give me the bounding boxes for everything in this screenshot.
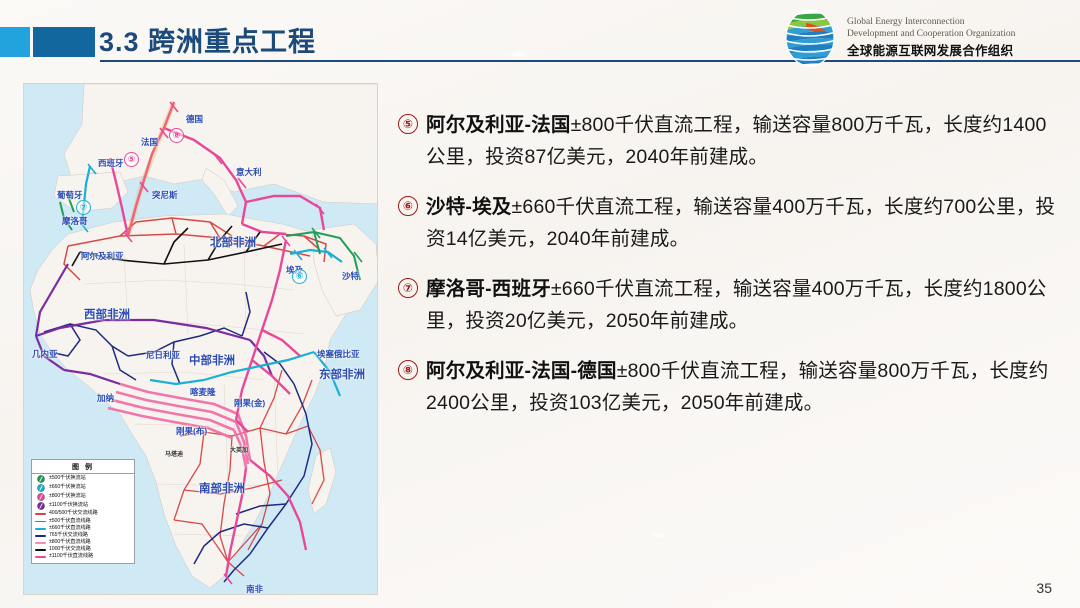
line-swatch-icon bbox=[35, 542, 46, 544]
legend-label: ±660千伏直流线路 bbox=[49, 526, 91, 532]
project-name: 阿尔及利亚-法国-德国 bbox=[426, 360, 617, 382]
project-name: 摩洛哥-西班牙 bbox=[426, 278, 551, 300]
legend-row: ±660千伏换流站 bbox=[32, 483, 134, 492]
legend-label: ±500千伏换流站 bbox=[49, 476, 86, 482]
legend-label: ±660千伏换流站 bbox=[49, 485, 86, 491]
page-number: 35 bbox=[1036, 580, 1052, 596]
line-swatch-icon bbox=[35, 528, 46, 530]
legend-label: ±500千伏直流线路 bbox=[49, 519, 91, 525]
africa-europe-grid-map[interactable]: 北部非洲 西部非洲 中部非洲 东部非洲 南部非洲 法国 德国 西班牙 葡萄牙 摩… bbox=[23, 83, 378, 595]
map-marker-7[interactable]: ⑦ bbox=[76, 200, 91, 215]
line-swatch-icon bbox=[35, 556, 46, 558]
slide-header: 3.3 跨洲重点工程 bbox=[0, 0, 1080, 78]
bullet-text: 沙特-埃及±660千伏直流工程，输送容量400万千瓦，长度约700公里，投资14… bbox=[426, 192, 1058, 255]
legend-label: ±800千伏换流站 bbox=[49, 494, 86, 500]
converter-station-icon bbox=[35, 484, 46, 492]
legend-row: ±500千伏换流站 bbox=[32, 474, 134, 483]
map-marker-8[interactable]: ⑧ bbox=[169, 128, 184, 143]
list-item: ⑤ 阿尔及利亚-法国±800千伏直流工程，输送容量800万千瓦，长度约1400公… bbox=[398, 110, 1058, 173]
legend-label: ±1100千伏换流站 bbox=[49, 503, 88, 509]
project-name: 沙特-埃及 bbox=[426, 196, 512, 218]
line-swatch-icon bbox=[35, 521, 46, 523]
project-list: ⑤ 阿尔及利亚-法国±800千伏直流工程，输送容量800万千瓦，长度约1400公… bbox=[398, 110, 1058, 439]
logo-english-line1: Global Energy Interconnection bbox=[847, 16, 1015, 29]
line-swatch-icon bbox=[35, 549, 46, 551]
legend-row: ±800千伏换流站 bbox=[32, 492, 134, 501]
legend-row: 400/500千伏交流线路 bbox=[32, 511, 134, 518]
bullet-text: 摩洛哥-西班牙±660千伏直流工程，输送容量400万千瓦，长度约1800公里，投… bbox=[426, 274, 1058, 337]
organization-logo: Global Energy Interconnection Developmen… bbox=[782, 8, 1072, 68]
map-marker-5[interactable]: ⑤ bbox=[124, 152, 139, 167]
converter-station-icon bbox=[35, 493, 46, 501]
legend-title: 图 例 bbox=[32, 460, 134, 474]
map-marker-6[interactable]: ⑥ bbox=[292, 269, 307, 284]
globe-icon bbox=[782, 9, 838, 67]
project-detail: ±660千伏直流工程，输送容量400万千瓦，长度约700公里，投资14亿美元，2… bbox=[426, 196, 1055, 250]
bullet-text: 阿尔及利亚-法国±800千伏直流工程，输送容量800万千瓦，长度约1400公里，… bbox=[426, 110, 1058, 173]
converter-station-icon bbox=[35, 475, 46, 483]
legend-row: ±500千伏直流线路 bbox=[32, 518, 134, 525]
project-name: 阿尔及利亚-法国 bbox=[426, 114, 571, 136]
list-item: ⑧ 阿尔及利亚-法国-德国±800千伏直流工程，输送容量800万千瓦，长度约24… bbox=[398, 356, 1058, 419]
legend-row: ±1100千伏直流线路 bbox=[32, 554, 134, 561]
legend-label: 400/500千伏交流线路 bbox=[49, 511, 98, 517]
logo-english-line2: Development and Cooperation Organization bbox=[847, 28, 1015, 41]
legend-label: ±1100千伏直流线路 bbox=[49, 554, 93, 560]
list-item: ⑥ 沙特-埃及±660千伏直流工程，输送容量400万千瓦，长度约700公里，投资… bbox=[398, 192, 1058, 255]
logo-chinese-name: 全球能源互联网发展合作组织 bbox=[847, 42, 1015, 60]
legend-label: 765千伏交流线路 bbox=[49, 533, 88, 539]
header-accent-block-dark bbox=[33, 27, 95, 57]
bullet-number: ⑧ bbox=[398, 360, 418, 380]
bullet-text: 阿尔及利亚-法国-德国±800千伏直流工程，输送容量800万千瓦，长度约2400… bbox=[426, 356, 1058, 419]
bullet-number: ⑤ bbox=[398, 114, 418, 134]
bullet-number: ⑦ bbox=[398, 278, 418, 298]
line-swatch-icon bbox=[35, 513, 46, 515]
list-item: ⑦ 摩洛哥-西班牙±660千伏直流工程，输送容量400万千瓦，长度约1800公里… bbox=[398, 274, 1058, 337]
page-title: 3.3 跨洲重点工程 bbox=[99, 20, 316, 59]
map-legend: 图 例 ±500千伏换流站 ±660千伏换流站 ±800千伏换流站 ±1100千… bbox=[31, 459, 135, 564]
converter-station-icon bbox=[35, 502, 46, 510]
line-swatch-icon bbox=[35, 535, 46, 537]
header-accent-block-light bbox=[0, 27, 30, 57]
bullet-number: ⑥ bbox=[398, 196, 418, 216]
